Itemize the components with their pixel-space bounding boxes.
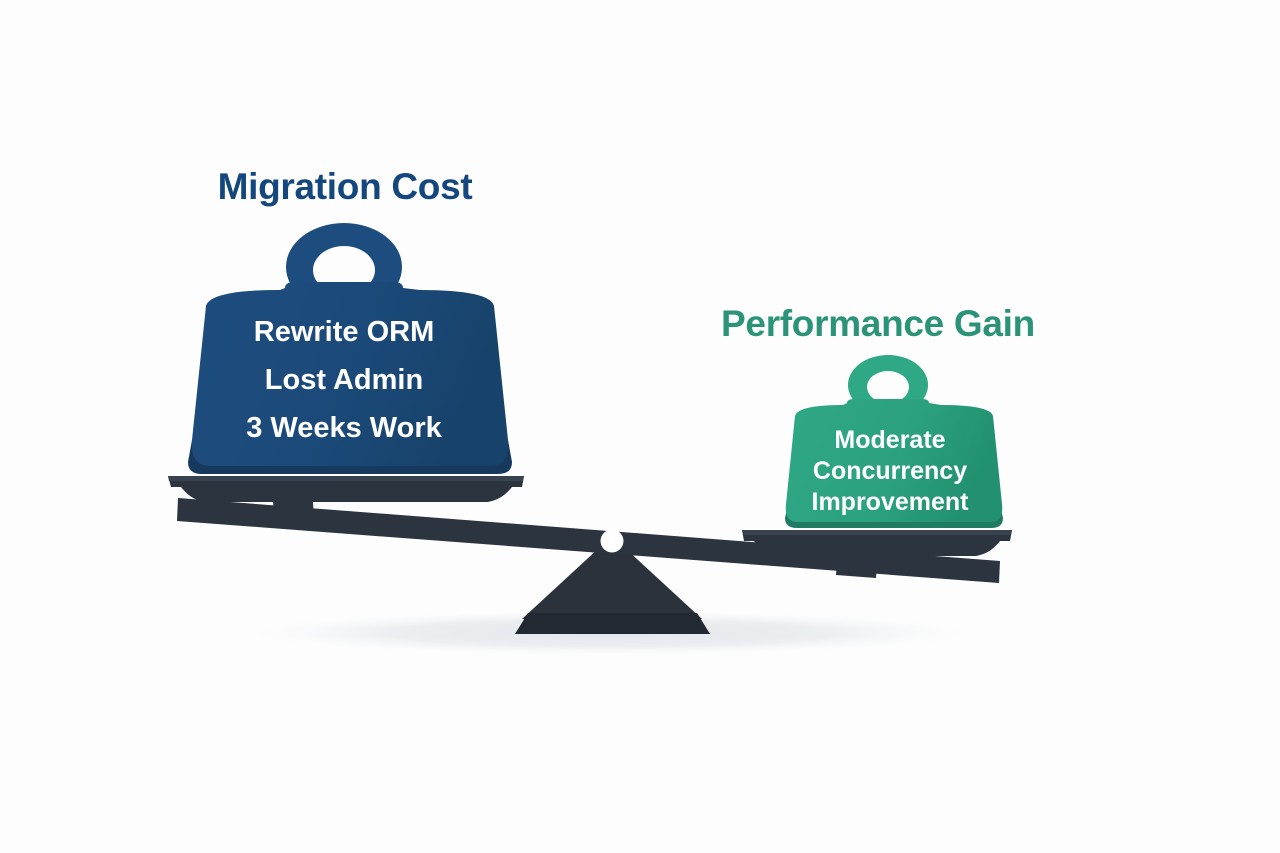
- left-weight-line-3: 3 Weeks Work: [246, 412, 442, 444]
- left-weight-line-1: Rewrite ORM: [254, 316, 434, 348]
- fulcrum-base-plate: [515, 613, 710, 634]
- right-weight-handle-hole: [867, 371, 909, 403]
- right-title-label: Performance Gain: [721, 303, 1035, 344]
- pivot-circle-icon: [601, 530, 624, 553]
- left-pan-rim-highlight: [168, 476, 524, 481]
- balance-scale-illustration: Rewrite ORM Lost Admin 3 Weeks Work Mode…: [0, 0, 1280, 853]
- right-pan-group: [742, 530, 1012, 556]
- right-weight-line-3: Improvement: [812, 488, 970, 516]
- left-pan-group: [168, 476, 524, 502]
- right-weight-icon: Moderate Concurrency Improvement: [785, 355, 1003, 528]
- left-weight-icon: Rewrite ORM Lost Admin 3 Weeks Work: [188, 223, 512, 474]
- right-pan-rim-highlight: [742, 530, 1012, 535]
- left-title-label: Migration Cost: [218, 166, 473, 207]
- left-weight-line-2: Lost Admin: [265, 364, 423, 396]
- right-weight-line-1: Moderate: [834, 426, 945, 454]
- infographic-canvas: Rewrite ORM Lost Admin 3 Weeks Work Mode…: [0, 0, 1280, 853]
- right-weight-line-2: Concurrency: [813, 457, 967, 485]
